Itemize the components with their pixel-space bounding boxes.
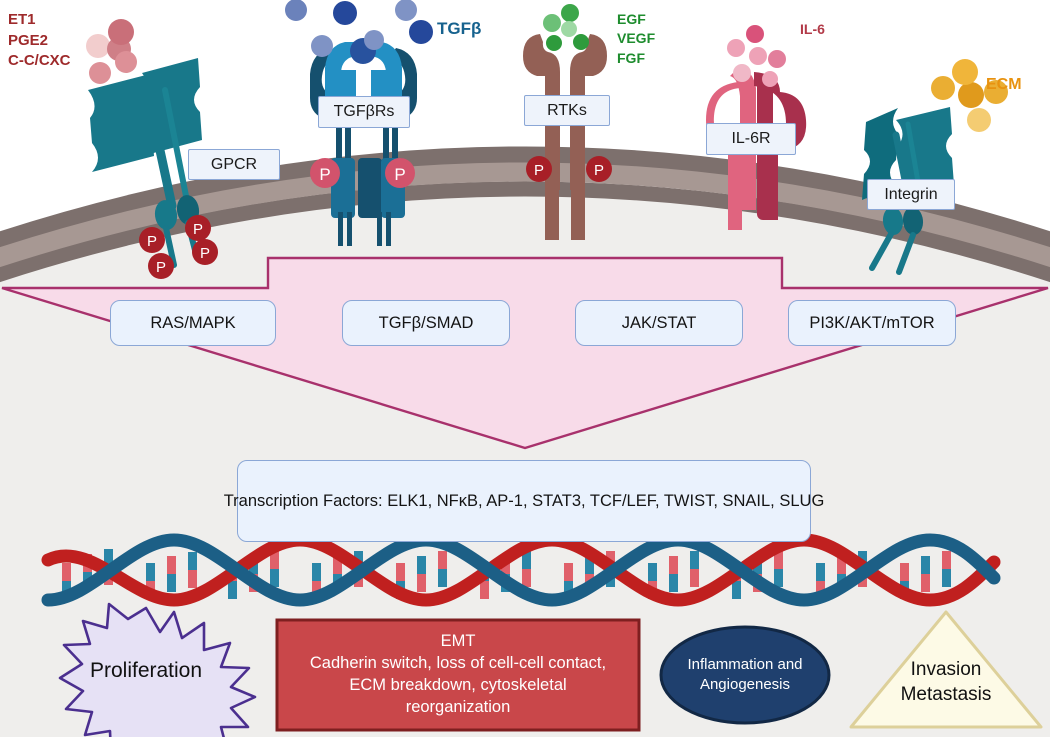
pathway-box-ras-mapk[interactable]: RAS/MAPK (110, 300, 276, 346)
outcome-label-invasion-metastasis: Invasion Metastasis (866, 640, 1026, 724)
pathway-box-tgfb-smad[interactable]: TGFβ/SMAD (342, 300, 510, 346)
svg-text:P: P (594, 162, 604, 179)
svg-text:P: P (319, 165, 330, 184)
ligand-label-il6: IL-6 (800, 20, 825, 39)
outcome-label-inflammation-angiogenesis: Inflammation and Angiogenesis (661, 627, 829, 723)
ligand-label-gpcr: ET1 PGE2 C-C/CXC (8, 10, 71, 72)
receptor-label-tgfbrs[interactable]: TGFβRs (318, 96, 410, 128)
svg-text:P: P (193, 221, 203, 238)
receptor-label-gpcr[interactable]: GPCR (188, 149, 280, 180)
svg-text:P: P (534, 162, 544, 179)
receptor-label-il6r[interactable]: IL-6R (706, 123, 796, 155)
pathway-box-jak-stat[interactable]: JAK/STAT (575, 300, 743, 346)
receptor-label-integrin[interactable]: Integrin (867, 179, 955, 210)
receptor-label-rtks[interactable]: RTKs (524, 95, 610, 126)
svg-text:P: P (394, 165, 405, 184)
signaling-pathway-diagram: P P P P (0, 0, 1050, 737)
ligand-label-rtk: EGF VEGF FGF (617, 10, 655, 68)
svg-text:P: P (147, 233, 157, 250)
outcome-label-emt: EMT Cadherin switch, loss of cell-cell c… (279, 622, 637, 728)
svg-text:P: P (200, 245, 210, 262)
pathway-box-pi3k-akt-mtor[interactable]: PI3K/AKT/mTOR (788, 300, 956, 346)
svg-text:P: P (156, 259, 166, 276)
ligand-label-tgfb: TGFβ (437, 17, 481, 40)
transcription-factors-box[interactable]: Transcription Factors: ELK1, NFκB, AP-1,… (237, 460, 811, 542)
ligand-label-ecm: ECM (986, 74, 1022, 96)
outcome-label-proliferation: Proliferation (36, 610, 256, 732)
